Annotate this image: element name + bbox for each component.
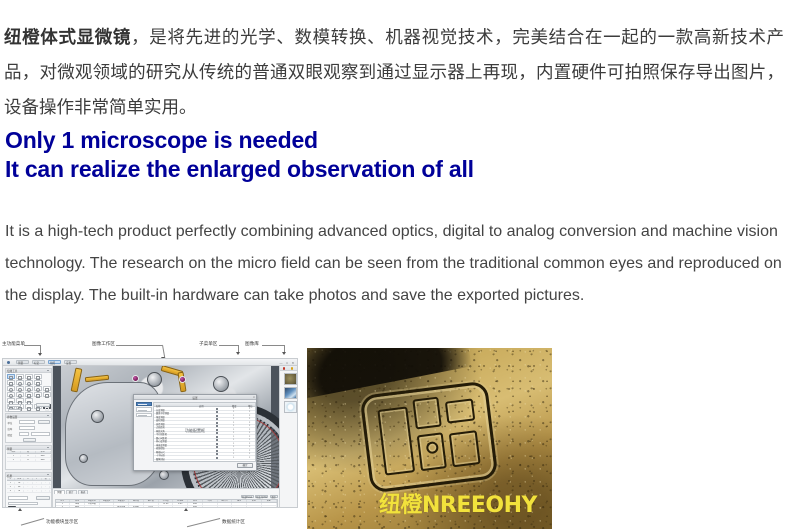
english-intro-paragraph: It is a high-tech product perfectly comb…: [5, 216, 783, 312]
parameter-panel: 参数设置 单位 倍率 精度: [5, 413, 52, 443]
result-cell: 3: [7, 490, 16, 492]
callout-leader-2: [116, 345, 162, 346]
collapse-icon[interactable]: [47, 474, 49, 475]
tool-apply-button[interactable]: [36, 403, 50, 407]
image-library-toolbar[interactable]: [280, 366, 298, 371]
result-cell: ·: [24, 490, 33, 492]
dialog-row-v1: 1: [233, 457, 234, 459]
stat-col: 单位: [188, 500, 203, 502]
dialog-row-checkbox[interactable]: [216, 450, 218, 452]
stat-cell: [262, 503, 277, 505]
tool-cell[interactable]: [7, 392, 15, 397]
dialog-row-v2: 2: [249, 457, 250, 459]
stat-cell: 直径测量: [114, 506, 129, 508]
photo-watermark: 纽橙NREEOHY: [379, 487, 537, 519]
measure-cell: 2: [7, 459, 22, 461]
tool-cell[interactable]: [25, 386, 33, 391]
result-row[interactable]: 2圆···: [7, 486, 51, 489]
menu-label-1: 标定: [34, 361, 39, 365]
image-library-panel: [279, 366, 298, 508]
measure-col: 单位: [36, 451, 51, 453]
stat-col: 时间: [203, 500, 218, 502]
dialog-row-v1: 1: [233, 439, 234, 441]
stat-col: 备注: [232, 500, 247, 502]
measure-row[interactable]: 28mm: [7, 459, 51, 462]
tool-cell[interactable]: [7, 374, 15, 379]
result-cell: ·: [42, 482, 51, 484]
measure-table-head: 项目值单位: [7, 451, 51, 454]
stat-cell: [247, 506, 262, 508]
callout-leader-4: [262, 345, 284, 346]
callout-leader-3: [219, 345, 238, 346]
dialog-row-v2: 2: [249, 422, 250, 424]
dialog-close-icon[interactable]: ✕: [253, 396, 255, 399]
screw-shape: [147, 372, 162, 387]
result-cell: 2: [7, 486, 16, 488]
result-panel-header[interactable]: 结果: [6, 473, 51, 477]
statistics-tab-0[interactable]: 测量: [54, 490, 65, 494]
headline-line-1: Only 1 microscope is needed: [5, 126, 785, 155]
result-panel: 结果 号类型XY值 1线··· 2圆··· 3角···: [5, 472, 52, 508]
result-table-head: 号类型XY值: [7, 478, 51, 481]
stat-col: 测量值Y: [114, 500, 129, 502]
result-cell: ·: [24, 486, 33, 488]
stat-col: 操作员: [218, 500, 233, 502]
result-filter-input[interactable]: [8, 496, 28, 500]
chinese-intro-lead: 纽橙体式显微镜: [4, 27, 131, 47]
stat-cell: [247, 503, 262, 505]
screw-shape: [159, 470, 169, 480]
tool-cell[interactable]: [16, 398, 24, 403]
dialog-row-v1: 1: [233, 408, 234, 410]
workspace-letterbox-left: [53, 366, 61, 488]
stat-cell: [232, 503, 247, 505]
callout-submenu-area: 子菜单区: [199, 342, 217, 348]
screw-shape: [91, 410, 104, 423]
menu-label-3: 设置: [66, 361, 71, 365]
callout-arrow-1: [38, 353, 42, 356]
stat-cell: [100, 503, 115, 505]
result-col: 值: [42, 478, 51, 480]
result-cell: 角: [15, 490, 24, 492]
param-input-3[interactable]: [19, 432, 29, 436]
dialog-nav-item-2[interactable]: [136, 413, 152, 417]
dialog-row-v2: 2: [249, 429, 250, 431]
tool-cell[interactable]: [7, 386, 15, 391]
dialog-center-annotation: 功能配置框: [185, 428, 205, 434]
dialog-row-v2: 2: [249, 443, 250, 445]
dialog-nav-list[interactable]: [136, 402, 152, 418]
dialog-row-v2: 2: [249, 446, 250, 448]
callout-arrow-5: [18, 508, 22, 511]
dialog-row-checkbox[interactable]: [216, 436, 218, 438]
dialog-row-v2: 2: [249, 432, 250, 434]
measure-cell: 8: [21, 459, 36, 461]
headline-line-2: It can realize the enlarged observation …: [5, 155, 785, 184]
stat-col: 测量值X: [100, 500, 115, 502]
dialog-row-v2: 2: [249, 415, 250, 417]
param-label-1: 单位: [8, 421, 13, 425]
stat-cell: [129, 503, 144, 505]
dialog-row-v1: 1: [233, 450, 234, 452]
dialog-nav-item-0[interactable]: [136, 402, 152, 406]
drawing-tools-header[interactable]: 绘图工具: [6, 369, 51, 373]
dialog-row-v2: 2: [249, 425, 250, 427]
param-confirm-button[interactable]: [23, 438, 36, 442]
statistics-tab-2[interactable]: 报表: [78, 490, 89, 494]
drawing-tools-panel: 绘图工具: [5, 368, 52, 412]
dialog-row-v1: 1: [233, 436, 234, 438]
stat-cell: 长度测量: [85, 503, 100, 505]
measure-panel: 测量 项目值单位 15mm 28mm: [5, 445, 52, 470]
collapse-icon[interactable]: [47, 447, 49, 448]
measure-panel-title: 测量: [7, 447, 12, 451]
dialog-row-checkbox[interactable]: [216, 432, 218, 434]
param-label-3: 精度: [8, 433, 13, 437]
result-path-input[interactable]: [8, 502, 38, 506]
glyph-stroke: [449, 430, 481, 467]
stat-col: 标准差: [173, 500, 188, 502]
result-col: 号: [7, 478, 16, 480]
menu-label-2: 拍照: [50, 361, 55, 365]
tool-cell[interactable]: [34, 374, 42, 379]
page-root: 纽橙体式显微镜，是将先进的光学、数模转换、机器视觉技术，完美结合在一起的一款高新…: [0, 0, 790, 529]
measure-cell: 1: [7, 455, 22, 457]
result-row[interactable]: 3角···: [7, 490, 51, 493]
dialog-row-checkbox[interactable]: [216, 429, 218, 431]
library-thumbnail[interactable]: [284, 373, 297, 385]
tool-cell[interactable]: [16, 380, 24, 385]
stat-cell: 2: [56, 506, 71, 508]
dialog-row-v1: 1: [233, 446, 234, 448]
dialog-row-checkbox[interactable]: [216, 439, 218, 441]
stat-cell: 线段: [70, 503, 85, 505]
statistics-row[interactable]: 2 圆弧 直径测量 8.640 0.01 mm: [56, 506, 277, 508]
app-logo-icon: [7, 361, 10, 364]
stat-cell: [114, 503, 129, 505]
stat-cell: [232, 506, 247, 508]
stat-cell: [159, 506, 174, 508]
drawing-tools-title: 绘图工具: [7, 369, 17, 373]
screw-shape: [213, 376, 229, 392]
dialog-ok-button[interactable]: 确定: [237, 463, 253, 468]
dialog-row-checkbox[interactable]: [216, 418, 218, 420]
collapse-icon[interactable]: [47, 415, 49, 416]
stat-col: 最大值: [129, 500, 144, 502]
dialog-row-v1: 1: [233, 415, 234, 417]
dialog-table-row[interactable]: 图像拼接12: [154, 456, 255, 460]
library-thumbnail[interactable]: [284, 387, 297, 399]
dialog-row-v2: 2: [249, 418, 250, 420]
stat-cell: [203, 506, 218, 508]
dialog-row-v1: 1: [233, 425, 234, 427]
dialog-row-checkbox[interactable]: [216, 411, 218, 413]
callout-leader-6: [187, 518, 220, 527]
callout-arrow-4: [282, 352, 286, 355]
software-screenshot-figure: 主功能菜单 图像工作区 子菜单区 图像库 功能模块显示区 数据统计区 测量: [0, 340, 300, 529]
window-controls[interactable]: — □ ✕: [280, 361, 296, 365]
image-workspace[interactable]: 设置 ✕ 名称 启用 精度 单位: [53, 366, 279, 488]
star-icon[interactable]: [291, 367, 293, 369]
statistics-tabs[interactable]: 测量 统计 报表: [54, 490, 88, 494]
tool-cell[interactable]: [43, 392, 51, 397]
stat-col: 序号: [56, 500, 71, 502]
stat-cell: [203, 503, 218, 505]
measure-cell: 5: [21, 455, 36, 457]
stat-col: 最小值: [144, 500, 159, 502]
tool-cell[interactable]: [43, 386, 51, 391]
library-thumbnail[interactable]: [284, 401, 297, 413]
tool-cell[interactable]: [25, 374, 33, 379]
coin-engraved-character: [360, 381, 499, 494]
tool-cell[interactable]: [7, 380, 15, 385]
callout-data-statistics: 数据统计区: [222, 520, 245, 526]
stat-cell: 0.01: [144, 506, 159, 508]
stat-cell: [173, 506, 188, 508]
dialog-row-checkbox[interactable]: [216, 415, 218, 417]
measure-col: 项目: [7, 451, 22, 453]
glyph-stroke: [445, 398, 475, 423]
dialog-row-checkbox[interactable]: [216, 443, 218, 445]
tool-cell[interactable]: [25, 398, 33, 403]
data-statistics-area: 测量 统计 报表 导出Excel 导出为CSV 清空 序号 名称 测量类型 测量…: [53, 488, 279, 508]
param-input-1[interactable]: [19, 420, 35, 424]
screw-shape: [79, 454, 88, 463]
tool-cell[interactable]: [34, 392, 42, 397]
dialog-row-v2: 2: [249, 436, 250, 438]
stat-cell: [85, 506, 100, 508]
app-menubar[interactable]: 测量 标定 拍照 设置 — □ ✕: [3, 359, 297, 366]
tool-cell[interactable]: [7, 398, 15, 403]
dialog-row-checkbox[interactable]: [216, 446, 218, 448]
stat-cell: [144, 503, 159, 505]
result-cell: ·: [42, 490, 51, 492]
export-csv-button[interactable]: 导出为CSV: [255, 495, 268, 499]
callout-module-display: 功能模块显示区: [46, 520, 78, 526]
dialog-row-v2: 2: [249, 453, 250, 455]
tool-cell[interactable]: [25, 380, 33, 385]
chinese-intro-paragraph: 纽橙体式显微镜，是将先进的光学、数模转换、机器视觉技术，完美结合在一起的一款高新…: [4, 20, 784, 125]
callout-main-menu: 主功能菜单: [2, 342, 25, 348]
tool-cell[interactable]: [34, 386, 42, 391]
stat-cell: 1: [56, 503, 71, 505]
result-col: X: [24, 478, 33, 480]
callout-arrow-6: [184, 508, 188, 511]
result-cell: 圆: [15, 486, 24, 488]
result-panel-title: 结果: [7, 474, 12, 478]
stat-cell: mm: [188, 503, 203, 505]
stat-col: 误差: [262, 500, 277, 502]
tool-cell[interactable]: [16, 386, 24, 391]
microscope-sample-photo: 纽橙NREEOHY: [307, 348, 552, 529]
tool-cell[interactable]: [25, 392, 33, 397]
param-label-2: 倍率: [8, 427, 13, 431]
result-cell: ·: [33, 486, 42, 488]
result-col: 类型: [15, 478, 24, 480]
dialog-row-checkbox[interactable]: [216, 425, 218, 427]
dialog-row-v2: 2: [249, 411, 250, 413]
dialog-row-v1: 1: [233, 453, 234, 455]
dialog-nav-item-1[interactable]: [136, 407, 152, 411]
stat-col: 平均值: [159, 500, 174, 502]
dialog-row-v1: 1: [233, 422, 234, 424]
dialog-row-checkbox[interactable]: [216, 457, 218, 459]
dialog-row-checkbox[interactable]: [216, 422, 218, 424]
tool-cell[interactable]: [16, 392, 24, 397]
measure-row[interactable]: 15mm: [7, 455, 51, 458]
measure-col: 值: [21, 451, 36, 453]
dialog-row-v1: 1: [233, 429, 234, 431]
param-button-1[interactable]: [38, 420, 50, 424]
dialog-titlebar[interactable]: 设置 ✕: [134, 395, 256, 400]
stat-cell: 0.02: [173, 503, 188, 505]
dialog-row-v1: 1: [233, 443, 234, 445]
headline-block: Only 1 microscope is needed It can reali…: [5, 126, 785, 184]
stat-cell: [262, 506, 277, 508]
statistics-toolbar[interactable]: 导出Excel 导出为CSV 清空: [241, 495, 278, 499]
export-excel-button[interactable]: 导出Excel: [241, 495, 254, 499]
measure-panel-header[interactable]: 测量: [6, 446, 51, 450]
tool-field-b[interactable]: [8, 409, 21, 413]
collapse-icon[interactable]: [47, 370, 49, 371]
dialog-row-v1: 1: [233, 411, 234, 413]
callout-image-library: 图像库: [245, 342, 259, 348]
result-cell: 线: [15, 482, 24, 484]
tool-cell[interactable]: [16, 374, 24, 379]
stat-cell: mm: [188, 506, 203, 508]
dialog-row-v2: 2: [249, 450, 250, 452]
function-module-panel: 绘图工具: [3, 366, 53, 508]
dialog-row-v2: 2: [249, 439, 250, 441]
dialog-row-checkbox[interactable]: [216, 453, 218, 455]
record-icon[interactable]: [283, 367, 285, 369]
stat-col: 名称: [70, 500, 85, 502]
stat-col: 测量类型: [85, 500, 100, 502]
tool-cell[interactable]: [25, 404, 33, 409]
result-cell: ·: [33, 482, 42, 484]
result-export-button[interactable]: [36, 496, 50, 500]
clear-button[interactable]: 清空: [270, 495, 278, 499]
stat-cell: 12.05: [159, 503, 174, 505]
menu-label-0: 测量: [18, 361, 23, 365]
param-input-2[interactable]: [19, 426, 35, 430]
glyph-stroke: [412, 397, 441, 430]
stat-cell: [218, 503, 233, 505]
measurement-software-window: 测量 标定 拍照 设置 — □ ✕ 绘图工具: [2, 358, 298, 508]
statistics-tab-1[interactable]: 统计: [66, 490, 77, 494]
jewel-shape: [179, 376, 186, 383]
stat-cell: 8.640: [129, 506, 144, 508]
result-col: Y: [33, 478, 42, 480]
statistics-table[interactable]: 序号 名称 测量类型 测量值X 测量值Y 最大值 最小值 平均值 标准差 单位 …: [55, 499, 278, 508]
dialog-title: 设置: [192, 396, 197, 400]
dialog-row-checkbox[interactable]: [216, 408, 218, 410]
dialog-row-name: 图像拼接: [156, 457, 165, 461]
result-row[interactable]: 1线···: [7, 482, 51, 485]
stat-cell: 圆弧: [70, 506, 85, 508]
configuration-dialog[interactable]: 设置 ✕ 名称 启用 精度 单位: [133, 394, 257, 471]
tool-field-a[interactable]: [8, 404, 21, 408]
callout-leader-1: [24, 345, 40, 346]
stat-col: 状态: [247, 500, 262, 502]
yellow-lever-shape: [71, 368, 83, 393]
dialog-row-v1: 1: [233, 432, 234, 434]
tool-cell[interactable]: [34, 380, 42, 385]
result-cell: ·: [24, 482, 33, 484]
callout-arrow-3: [236, 352, 240, 355]
callout-image-workspace: 图像工作区: [92, 342, 115, 348]
param-input-4[interactable]: [31, 432, 50, 436]
result-cell: 1: [7, 482, 16, 484]
result-cell: ·: [33, 490, 42, 492]
result-cell: ·: [42, 486, 51, 488]
stat-cell: [100, 506, 115, 508]
callout-leader-5: [21, 518, 44, 525]
dialog-row-v2: 2: [249, 408, 250, 410]
measure-cell: mm: [36, 459, 51, 461]
dialog-row-v1: 1: [233, 418, 234, 420]
measure-cell: mm: [36, 455, 51, 457]
parameter-panel-title: 参数设置: [7, 415, 17, 419]
jewel-shape: [132, 375, 139, 382]
result-run-button[interactable]: [8, 506, 16, 508]
stat-cell: [218, 506, 233, 508]
parameter-panel-header[interactable]: 参数设置: [6, 414, 51, 418]
